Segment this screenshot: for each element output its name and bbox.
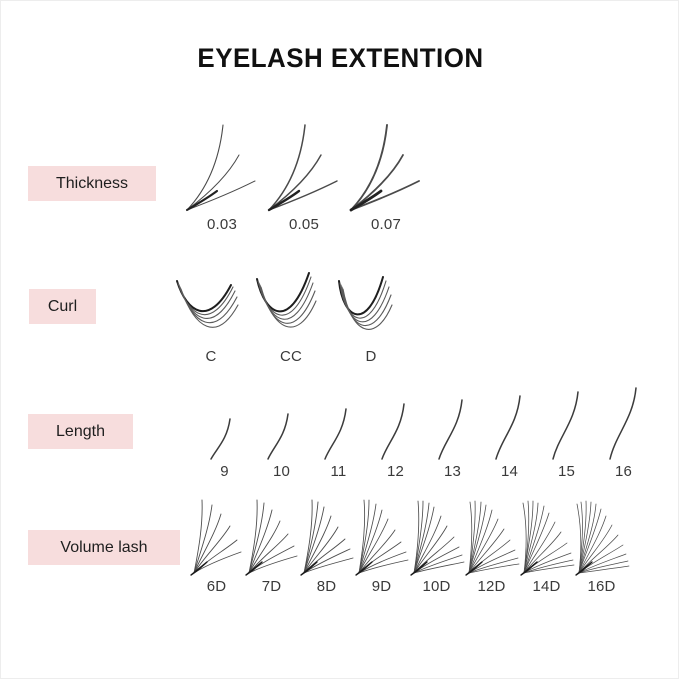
list-item-label: 0.03 [207, 216, 237, 233]
row-length: Length 9 10 11 [1, 386, 679, 481]
volume-lash-swatches: 6D 7D [189, 496, 629, 595]
row-label-thickness: Thickness [28, 166, 156, 201]
lash-single-curve-icon [262, 386, 302, 461]
row-curl: Curl C [1, 251, 679, 361]
lash-volume-fan-icon [464, 496, 520, 576]
list-item[interactable]: 14D [519, 496, 574, 595]
list-item[interactable]: 11 [310, 386, 367, 480]
list-item[interactable]: 9 [196, 386, 253, 480]
lash-fan-thin-icon [347, 119, 425, 214]
lash-single-curve-icon [205, 386, 245, 461]
list-item-label: 11 [331, 463, 347, 480]
lash-curl-icon [173, 251, 249, 346]
row-label-volume-lash: Volume lash [28, 530, 180, 565]
list-item-label: 10D [422, 578, 450, 595]
lash-volume-fan-icon [189, 496, 245, 576]
list-item[interactable]: 14 [481, 386, 538, 480]
list-item[interactable]: 0.05 [263, 119, 345, 233]
list-item[interactable]: 6D [189, 496, 244, 595]
list-item-label: 15 [558, 463, 575, 480]
list-item-label: 14D [532, 578, 560, 595]
list-item-label: 12D [477, 578, 505, 595]
list-item[interactable]: 12D [464, 496, 519, 595]
list-item[interactable]: 16D [574, 496, 629, 595]
lash-curl-icon [333, 251, 409, 346]
list-item[interactable]: 7D [244, 496, 299, 595]
list-item-label: CC [280, 348, 302, 365]
lash-fan-thin-icon [265, 119, 343, 214]
list-item-label: C [205, 348, 216, 365]
row-label-curl: Curl [29, 289, 96, 324]
list-item[interactable]: 16 [595, 386, 652, 480]
lash-curl-icon [253, 251, 329, 346]
length-swatches: 9 10 11 12 [196, 386, 652, 480]
list-item[interactable]: 0.07 [345, 119, 427, 233]
list-item-label: 13 [444, 463, 461, 480]
lash-single-curve-icon [319, 386, 359, 461]
list-item[interactable]: 8D [299, 496, 354, 595]
list-item[interactable]: 9D [354, 496, 409, 595]
list-item-label: D [365, 348, 376, 365]
lash-volume-fan-icon [354, 496, 410, 576]
lash-volume-fan-icon [574, 496, 630, 576]
list-item-label: 14 [501, 463, 518, 480]
list-item[interactable]: CC [251, 251, 331, 365]
row-label-length: Length [28, 414, 133, 449]
list-item-label: 8D [317, 578, 337, 595]
list-item[interactable]: 10 [253, 386, 310, 480]
list-item[interactable]: 0.03 [181, 119, 263, 233]
lash-volume-fan-icon [244, 496, 300, 576]
thickness-swatches: 0.03 0.05 [181, 119, 427, 233]
list-item-label: 16 [615, 463, 632, 480]
row-volume: Volume lash 6D [1, 496, 679, 601]
lash-single-curve-icon [490, 386, 530, 461]
eyelash-extension-chart: EYELASH EXTENTION Thickness 0.03 [0, 0, 679, 679]
curl-swatches: C CC [171, 251, 411, 365]
list-item-label: 0.05 [289, 216, 319, 233]
list-item[interactable]: 15 [538, 386, 595, 480]
list-item[interactable]: D [331, 251, 411, 365]
list-item-label: 6D [207, 578, 227, 595]
lash-volume-fan-icon [299, 496, 355, 576]
lash-single-curve-icon [376, 386, 416, 461]
list-item[interactable]: C [171, 251, 251, 365]
lash-volume-fan-icon [519, 496, 575, 576]
list-item-label: 12 [387, 463, 404, 480]
list-item[interactable]: 12 [367, 386, 424, 480]
lash-volume-fan-icon [409, 496, 465, 576]
lash-single-curve-icon [547, 386, 587, 461]
list-item-label: 9 [220, 463, 229, 480]
page-title: EYELASH EXTENTION [15, 43, 667, 74]
lash-fan-thin-icon [183, 119, 261, 214]
list-item-label: 10 [273, 463, 290, 480]
list-item[interactable]: 10D [409, 496, 464, 595]
lash-single-curve-icon [433, 386, 473, 461]
list-item-label: 7D [262, 578, 282, 595]
row-thickness: Thickness 0.03 [1, 119, 679, 239]
lash-single-curve-icon [604, 386, 644, 461]
list-item[interactable]: 13 [424, 386, 481, 480]
list-item-label: 0.07 [371, 216, 401, 233]
list-item-label: 9D [372, 578, 392, 595]
list-item-label: 16D [587, 578, 615, 595]
